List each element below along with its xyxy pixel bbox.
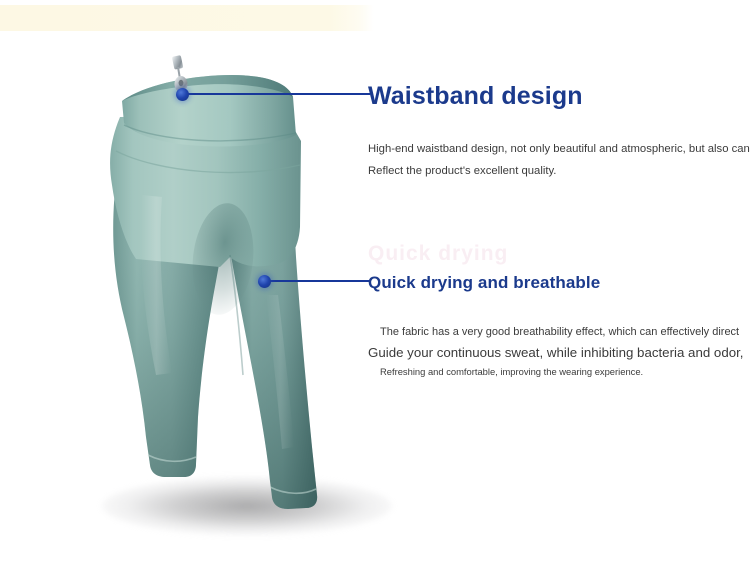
callout-body-quick-drying: The fabric has a very good breathability… — [368, 322, 744, 380]
callout-dot-quick-drying[interactable] — [258, 275, 271, 288]
callout-connector-waistband — [188, 93, 370, 95]
infographic-canvas: Quick drying — [0, 0, 750, 563]
callout-heading-quick-drying: Quick drying and breathable — [368, 274, 600, 291]
callout-connector-quick-drying — [270, 280, 370, 282]
product-image — [80, 45, 360, 535]
callout-body-line: Reflect the product's excellent quality. — [368, 160, 750, 182]
callout-body-line: Refreshing and comfortable, improving th… — [368, 363, 744, 380]
callout-dot-waistband[interactable] — [176, 88, 189, 101]
callout-heading-waistband: Waistband design — [368, 84, 583, 109]
callout-block-waistband: Waistband design — [368, 84, 583, 109]
top-accent-banner — [0, 5, 374, 31]
callout-body-line: The fabric has a very good breathability… — [368, 322, 744, 342]
background-watermark: Quick drying — [368, 242, 568, 268]
callout-body-line: Guide your continuous sweat, while inhib… — [368, 342, 744, 363]
callout-body-line: High-end waistband design, not only beau… — [368, 138, 750, 160]
callout-body-waistband: High-end waistband design, not only beau… — [368, 138, 750, 182]
leggings-illustration — [80, 45, 360, 535]
callout-block-quick-drying: Quick drying and breathable — [368, 274, 600, 291]
